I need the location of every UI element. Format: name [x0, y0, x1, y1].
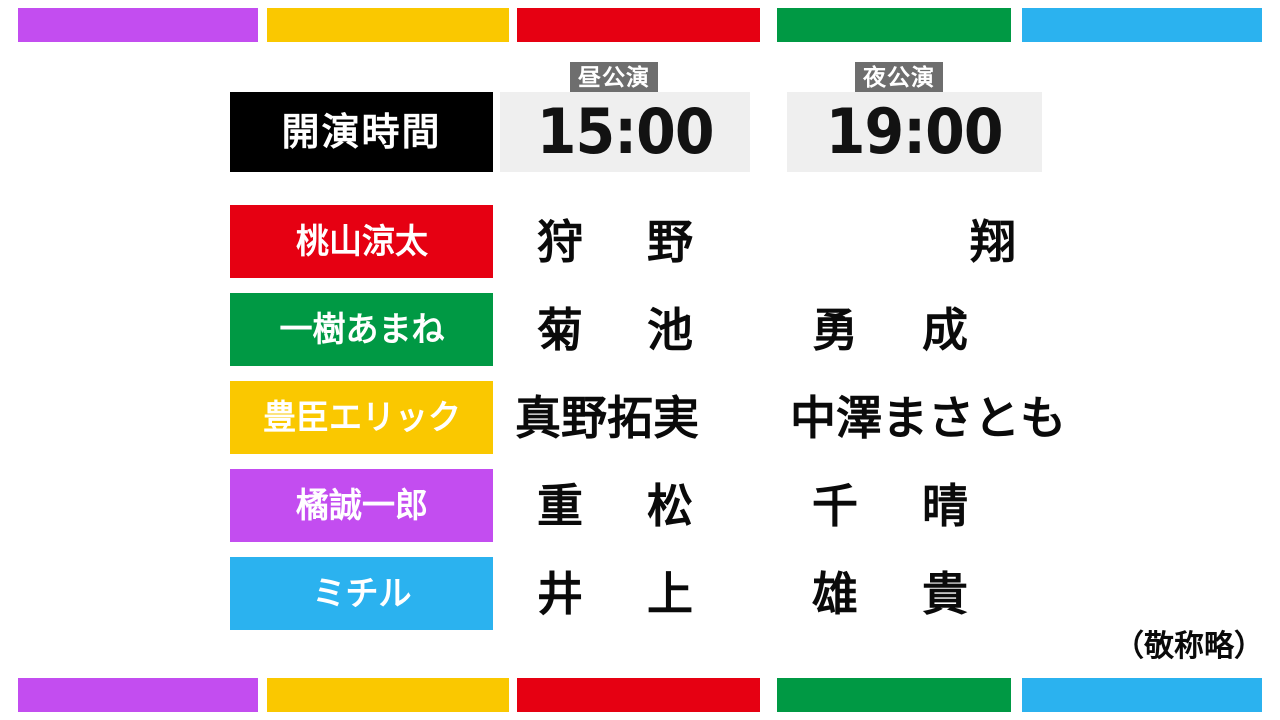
actor-matinee: 真野拓実	[515, 381, 785, 454]
cast-row: 豊臣エリック真野拓実中澤まさとも	[0, 381, 1280, 469]
cast-table: 桃山涼太狩野翔一樹あまね菊池勇成豊臣エリック真野拓実中澤まさとも橘誠一郎重松千晴…	[0, 205, 1280, 645]
role-name: 桃山涼太	[296, 225, 428, 259]
role-chip: ミチル	[230, 557, 493, 630]
top-bar-chip-yellow	[267, 8, 509, 42]
actor-matinee: 井上	[515, 557, 785, 630]
cast-row: ミチル井上雄貴	[0, 557, 1280, 645]
cast-row: 桃山涼太狩野翔	[0, 205, 1280, 293]
top-bar-chip-red	[517, 8, 760, 42]
role-name: 一樹あまね	[279, 313, 444, 347]
time-cell-evening: 19:00	[787, 92, 1042, 172]
actor-evening: 雄貴	[790, 557, 1090, 630]
actor-matinee: 狩野	[515, 205, 785, 278]
role-chip: 桃山涼太	[230, 205, 493, 278]
bottom-bar-chip-red	[517, 678, 760, 712]
role-chip: 一樹あまね	[230, 293, 493, 366]
start-time-label-text: 開演時間	[281, 113, 441, 151]
role-name: ミチル	[312, 577, 411, 611]
bottom-color-bar	[0, 678, 1280, 712]
start-time-label: 開演時間	[230, 92, 493, 172]
actor-matinee: 重松	[515, 469, 785, 542]
cast-row: 橘誠一郎重松千晴	[0, 469, 1280, 557]
badge-evening: 夜公演	[855, 62, 943, 94]
actor-evening: 翔	[790, 205, 1090, 278]
top-bar-chip-blue	[1022, 8, 1262, 42]
bottom-bar-chip-green	[777, 678, 1011, 712]
actor-evening: 千晴	[790, 469, 1090, 542]
time-cell-matinee: 15:00	[500, 92, 750, 172]
time-matinee-value: 15:00	[537, 101, 714, 163]
actor-evening: 勇成	[790, 293, 1090, 366]
top-bar-chip-purple	[18, 8, 258, 42]
badge-matinee: 昼公演	[570, 62, 658, 94]
role-name: 橘誠一郎	[296, 489, 428, 523]
cast-row: 一樹あまね菊池勇成	[0, 293, 1280, 381]
honorifics-note: （敬称略）	[1114, 632, 1264, 662]
top-color-bar	[0, 8, 1280, 42]
badge-matinee-text: 昼公演	[578, 67, 650, 90]
badge-evening-text: 夜公演	[863, 67, 935, 90]
schedule-header: 開演時間 昼公演 15:00 夜公演 19:00	[0, 92, 1280, 172]
bottom-bar-chip-blue	[1022, 678, 1262, 712]
bottom-bar-chip-yellow	[267, 678, 509, 712]
actor-matinee: 菊池	[515, 293, 785, 366]
role-chip: 橘誠一郎	[230, 469, 493, 542]
bottom-bar-chip-purple	[18, 678, 258, 712]
time-evening-value: 19:00	[826, 101, 1003, 163]
role-name: 豊臣エリック	[263, 401, 461, 435]
role-chip: 豊臣エリック	[230, 381, 493, 454]
top-bar-chip-green	[777, 8, 1011, 42]
actor-evening: 中澤まさとも	[790, 381, 1090, 454]
